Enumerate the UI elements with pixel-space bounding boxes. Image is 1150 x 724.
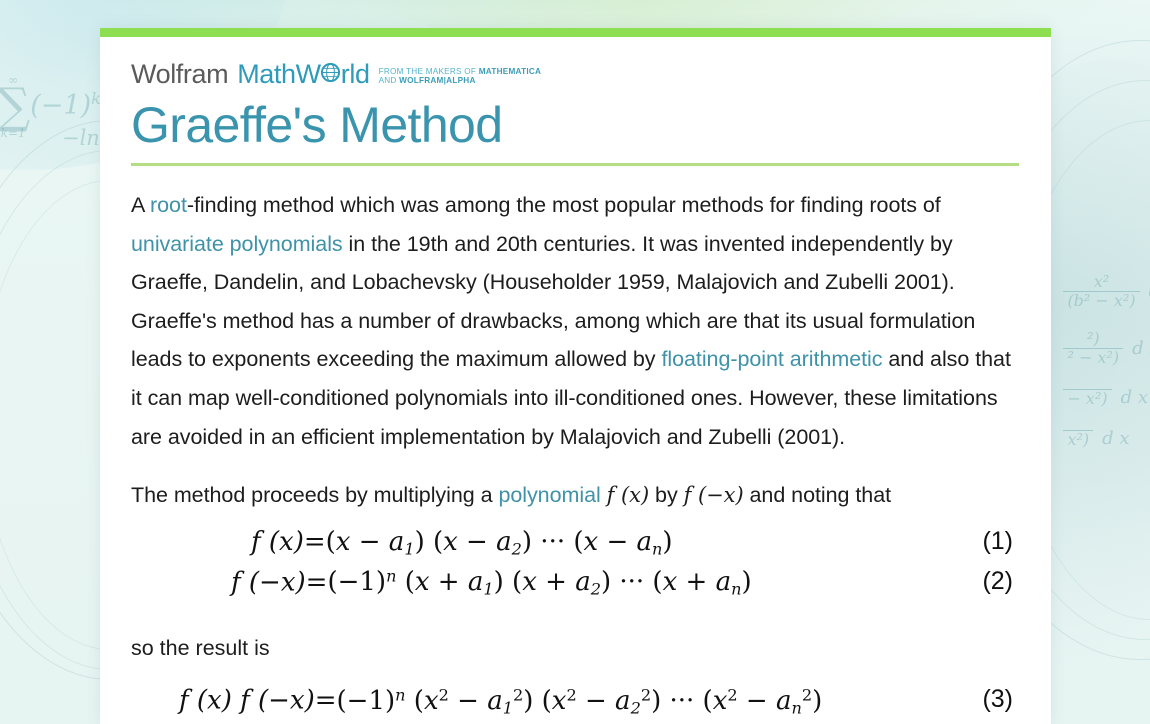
tagline-line1-strong: MATHEMATICA	[479, 67, 541, 76]
eq3-equals: =	[315, 686, 337, 716]
equation-1-body: f (x)=(x − a1) (x − a2) ··· (x − an)	[251, 527, 673, 559]
eq2-lhs-f: f	[231, 567, 241, 597]
site-logo[interactable]: Wolfram MathW rld FROM THE MAKERS OF MAT…	[131, 58, 1019, 88]
equation-block-2: f (x) f (−x)=(−1)n (x2 − a12) (x2 − a22)…	[131, 685, 1019, 724]
tagline-line-1: FROM THE MAKERS OF MATHEMATICA	[379, 67, 542, 76]
eq3-lhs-arg: (x) f (−x)	[197, 686, 315, 716]
background-formula-row: ²) ² − x²) d x	[1063, 331, 1150, 366]
p2-text-1: The method proceeds by multiplying a	[131, 483, 498, 507]
fraction-denominator: (b² − x²)	[1063, 291, 1139, 309]
eq1-equals: =	[304, 527, 326, 557]
logo-wolfram-text: Wolfram	[131, 61, 228, 88]
p1-text-1: A	[131, 193, 150, 217]
tagline-line1-prefix: FROM THE MAKERS OF	[379, 67, 479, 76]
equation-3-body: f (x) f (−x)=(−1)n (x2 − a12) (x2 − a22)…	[179, 685, 822, 717]
eq2-equals: =	[306, 567, 328, 597]
title-divider	[131, 163, 1019, 166]
equation-2-body: f (−x)=(−1)n (x + a1) (x + a2) ··· (x + …	[231, 567, 752, 599]
eq3-lhs-f: f	[179, 686, 189, 716]
so-result-text: so the result is	[131, 629, 1019, 668]
background-formula-row: x² (b² − x²) d x	[1063, 274, 1150, 309]
fraction-denominator: ² − x²)	[1063, 348, 1123, 366]
paragraph-2: The method proceeds by multiplying a pol…	[131, 476, 1019, 515]
tagline-line2-strong: WOLFRAM|ALPHA	[399, 76, 476, 85]
link-univariate-polynomials[interactable]: univariate polynomials	[131, 232, 343, 256]
differential-dx: d x	[1121, 389, 1148, 407]
inline-math-f-of-minus-x: f (−x)	[684, 483, 744, 507]
inline-math-f-of-x: f (x)	[607, 483, 649, 507]
equation-row-2: f (−x)=(−1)n (x + a1) (x + a2) ··· (x + …	[131, 567, 1019, 607]
equation-block-1: f (x)=(x − a1) (x − a2) ··· (x − an) (1)…	[131, 527, 1019, 607]
equation-number-2: (2)	[982, 567, 1013, 596]
eq1-lhs-f: f	[251, 527, 261, 557]
content-card: Wolfram MathW rld FROM THE MAKERS OF MAT…	[100, 28, 1051, 724]
logo-world-after: rld	[341, 61, 370, 88]
logo-tagline: FROM THE MAKERS OF MATHEMATICA AND WOLFR…	[379, 67, 542, 88]
equation-row-1: f (x)=(x − a1) (x − a2) ··· (x − an) (1)	[131, 527, 1019, 567]
tagline-line2-prefix: AND	[379, 76, 400, 85]
logo-world-before: W	[296, 61, 321, 88]
inline-math-f-2: f	[684, 483, 692, 507]
equation-row-3: f (x) f (−x)=(−1)n (x2 − a12) (x2 − a22)…	[131, 685, 1019, 724]
globe-icon	[321, 63, 340, 82]
background-formula-integrals: x² (b² − x²) d x ²) ² − x²) d x − x²) d …	[1063, 274, 1150, 470]
eq3-rhs: (−1)n (x2 − a12) (x2 − a22) ··· (x2 − an…	[337, 686, 823, 716]
summation-term: (−1)	[30, 90, 91, 121]
eq1-rhs: (x − a1) (x − a2) ··· (x − an)	[326, 527, 673, 557]
equation-number-3: (3)	[982, 685, 1013, 714]
eq2-lhs-arg: (−x)	[249, 567, 306, 597]
equation-number-1: (1)	[982, 527, 1013, 556]
fraction-denominator: x²)	[1063, 430, 1093, 448]
link-polynomial[interactable]: polynomial	[498, 483, 600, 507]
p1-text-2: -finding method which was among the most…	[187, 193, 941, 217]
eq1-lhs-arg: (x)	[269, 527, 304, 557]
eq2-rhs: (−1)n (x + a1) (x + a2) ··· (x + an)	[327, 567, 751, 597]
background-formula-row: x²) d x	[1063, 429, 1150, 448]
inline-math-arg-2: (−x)	[698, 483, 744, 507]
logo-mathworld-text: MathW rld	[237, 61, 369, 88]
p2-text-3: by	[649, 483, 683, 507]
background-formula-ln: −ln	[62, 126, 100, 150]
page-title: Graeffe's Method	[131, 98, 1019, 152]
fraction-numerator: x²	[1090, 274, 1113, 291]
background-formula-row: − x²) d x	[1063, 388, 1150, 407]
paragraph-1: A root-finding method which was among th…	[131, 186, 1019, 456]
inline-math-f-1: f	[607, 483, 615, 507]
summation-operator: ∑	[0, 86, 30, 127]
logo-math-text: Math	[237, 61, 295, 88]
inline-math-arg-1: (x)	[621, 483, 649, 507]
differential-dx: d x	[1132, 340, 1150, 358]
fraction-numerator: ²)	[1083, 331, 1104, 348]
link-floating-point-arithmetic[interactable]: floating-point arithmetic	[661, 347, 882, 371]
p2-text-4: and noting that	[744, 483, 891, 507]
differential-dx: d x	[1102, 430, 1129, 448]
article-body: A root-finding method which was among th…	[131, 186, 1019, 515]
fraction-denominator: − x²)	[1063, 389, 1111, 407]
tagline-line-2: AND WOLFRAM|ALPHA	[379, 76, 542, 85]
link-root[interactable]: root	[150, 193, 187, 217]
